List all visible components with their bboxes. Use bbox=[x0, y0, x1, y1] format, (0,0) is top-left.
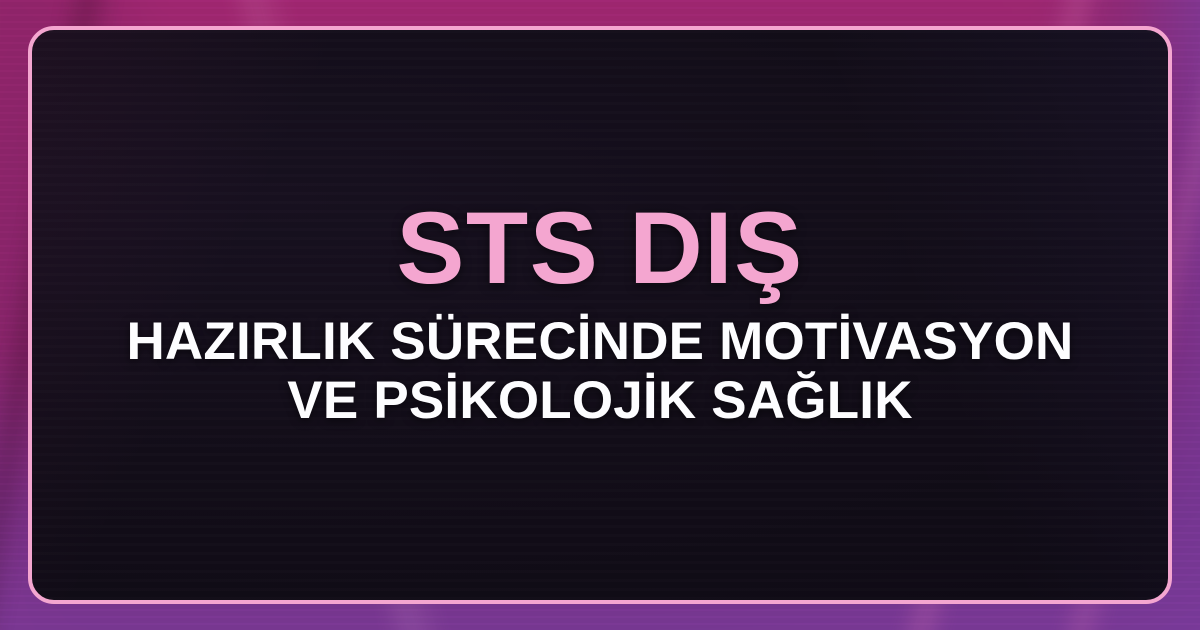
page-title: STS DIŞ bbox=[396, 196, 803, 300]
page-subtitle-line-1: HAZIRLIK SÜRECİNDE MOTİVASYON bbox=[126, 312, 1073, 371]
page-subtitle: HAZIRLIK SÜRECİNDE MOTİVASYON VE PSİKOLO… bbox=[126, 312, 1073, 431]
page-subtitle-line-2: VE PSİKOLOJİK SAĞLIK bbox=[126, 371, 1073, 430]
title-card-content: STS DIŞ HAZIRLIK SÜRECİNDE MOTİVASYON VE… bbox=[32, 30, 1168, 600]
title-card-panel: STS DIŞ HAZIRLIK SÜRECİNDE MOTİVASYON VE… bbox=[28, 26, 1172, 604]
poster-canvas: STS DIŞ HAZIRLIK SÜRECİNDE MOTİVASYON VE… bbox=[0, 0, 1200, 630]
